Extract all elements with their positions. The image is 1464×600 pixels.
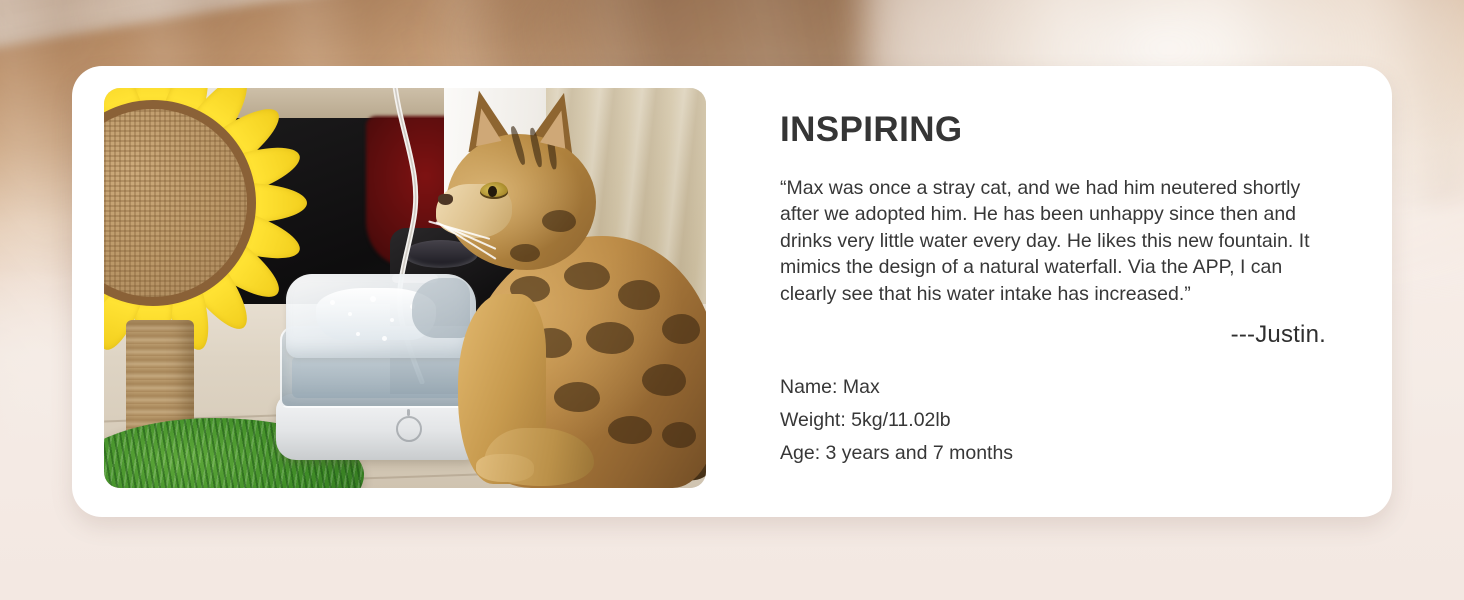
testimonial-quote: “Max was once a stray cat, and we had hi… — [780, 175, 1326, 308]
testimonial-attribution: ---Justin. — [780, 321, 1326, 349]
page-title: INSPIRING — [780, 112, 1332, 149]
cat-paw — [476, 454, 534, 482]
photo-scene — [104, 88, 706, 488]
pet-fact-weight: Weight: 5kg/11.02lb — [780, 404, 1332, 437]
testimonial-card: INSPIRING “Max was once a stray cat, and… — [72, 66, 1392, 517]
fountain-power-button-icon — [396, 416, 422, 442]
pet-fact-name: Name: Max — [780, 371, 1332, 404]
testimonial-photo — [104, 88, 706, 488]
sunflower-scratcher — [104, 88, 298, 348]
cat-nose — [438, 194, 453, 205]
testimonial-content: INSPIRING “Max was once a stray cat, and… — [706, 66, 1392, 470]
cat-pupil — [488, 186, 497, 197]
pet-fact-age: Age: 3 years and 7 months — [780, 437, 1332, 470]
bengal-cat — [428, 98, 706, 488]
pet-facts-list: Name: Max Weight: 5kg/11.02lb Age: 3 yea… — [780, 371, 1332, 470]
